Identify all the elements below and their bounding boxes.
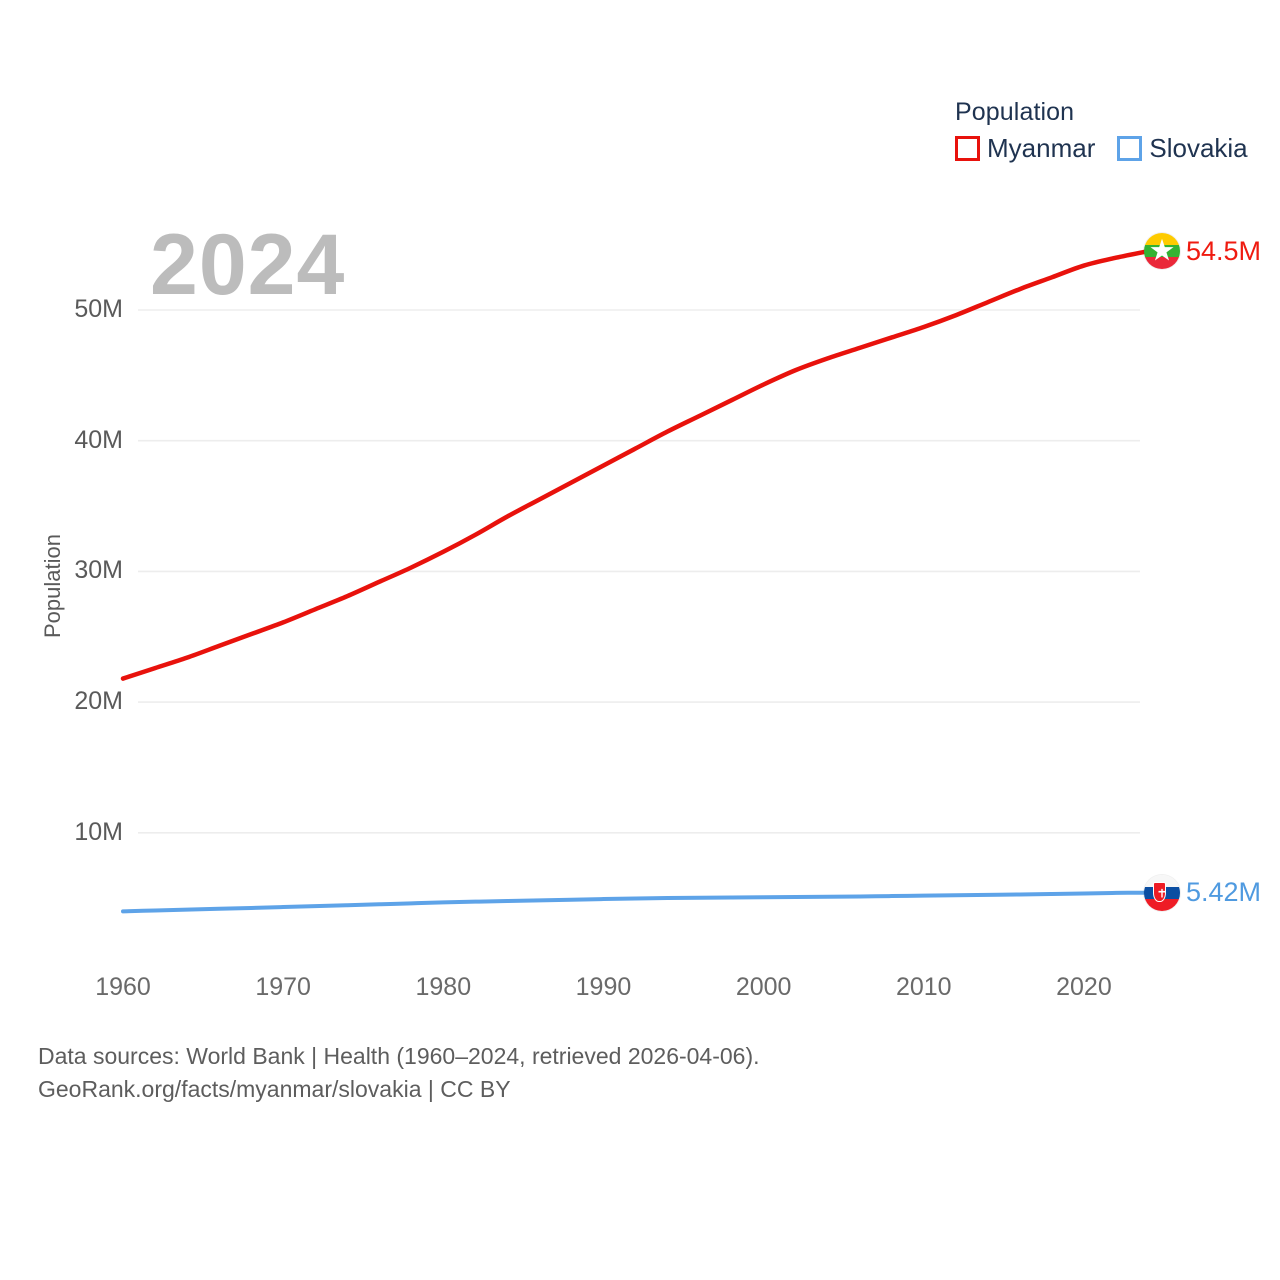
x-axis-tick-label: 1970 xyxy=(223,975,343,1000)
x-axis-tick-label: 1980 xyxy=(383,975,503,1000)
myanmar-flag-icon xyxy=(1144,233,1180,269)
endpoint-slovakia: 5.42M xyxy=(1144,875,1261,911)
endpoint-value-myanmar: 54.5M xyxy=(1186,238,1261,265)
y-axis-tick-label: 10M xyxy=(13,820,123,845)
footer-sources: Data sources: World Bank | Health (1960–… xyxy=(38,1040,760,1107)
legend-items: Myanmar Slovakia xyxy=(955,135,1248,161)
endpoint-myanmar: 54.5M xyxy=(1144,233,1261,269)
y-axis-tick-label: 50M xyxy=(13,297,123,322)
legend-label-slovakia: Slovakia xyxy=(1149,135,1247,161)
x-axis-tick-label: 2010 xyxy=(864,975,984,1000)
legend-label-myanmar: Myanmar xyxy=(987,135,1095,161)
y-axis-tick-label: 40M xyxy=(13,428,123,453)
x-axis-tick-label: 1990 xyxy=(543,975,663,1000)
x-axis-tick-label: 2000 xyxy=(704,975,824,1000)
y-axis-title: Population xyxy=(42,506,64,666)
slovakia-flag-icon xyxy=(1144,875,1180,911)
series-line-slovakia xyxy=(123,893,1148,912)
legend-swatch-slovakia xyxy=(1117,136,1142,161)
legend-swatch-myanmar xyxy=(955,136,980,161)
endpoint-value-slovakia: 5.42M xyxy=(1186,879,1261,906)
y-axis-tick-label: 30M xyxy=(13,558,123,583)
chart-legend: Population Myanmar Slovakia xyxy=(955,98,1248,161)
legend-title: Population xyxy=(955,98,1248,127)
legend-item-myanmar[interactable]: Myanmar xyxy=(955,135,1095,161)
series-line-myanmar xyxy=(123,251,1148,678)
legend-item-slovakia[interactable]: Slovakia xyxy=(1117,135,1247,161)
population-line-chart: Population Myanmar Slovakia 2024 50M40M3… xyxy=(0,0,1280,1280)
y-axis-tick-label: 20M xyxy=(13,689,123,714)
footer-line-2: GeoRank.org/facts/myanmar/slovakia | CC … xyxy=(38,1073,760,1106)
x-axis-tick-label: 2020 xyxy=(1024,975,1144,1000)
footer-line-1: Data sources: World Bank | Health (1960–… xyxy=(38,1040,760,1073)
gridlines xyxy=(138,310,1140,833)
x-axis-tick-label: 1960 xyxy=(63,975,183,1000)
year-watermark: 2024 xyxy=(150,222,345,308)
